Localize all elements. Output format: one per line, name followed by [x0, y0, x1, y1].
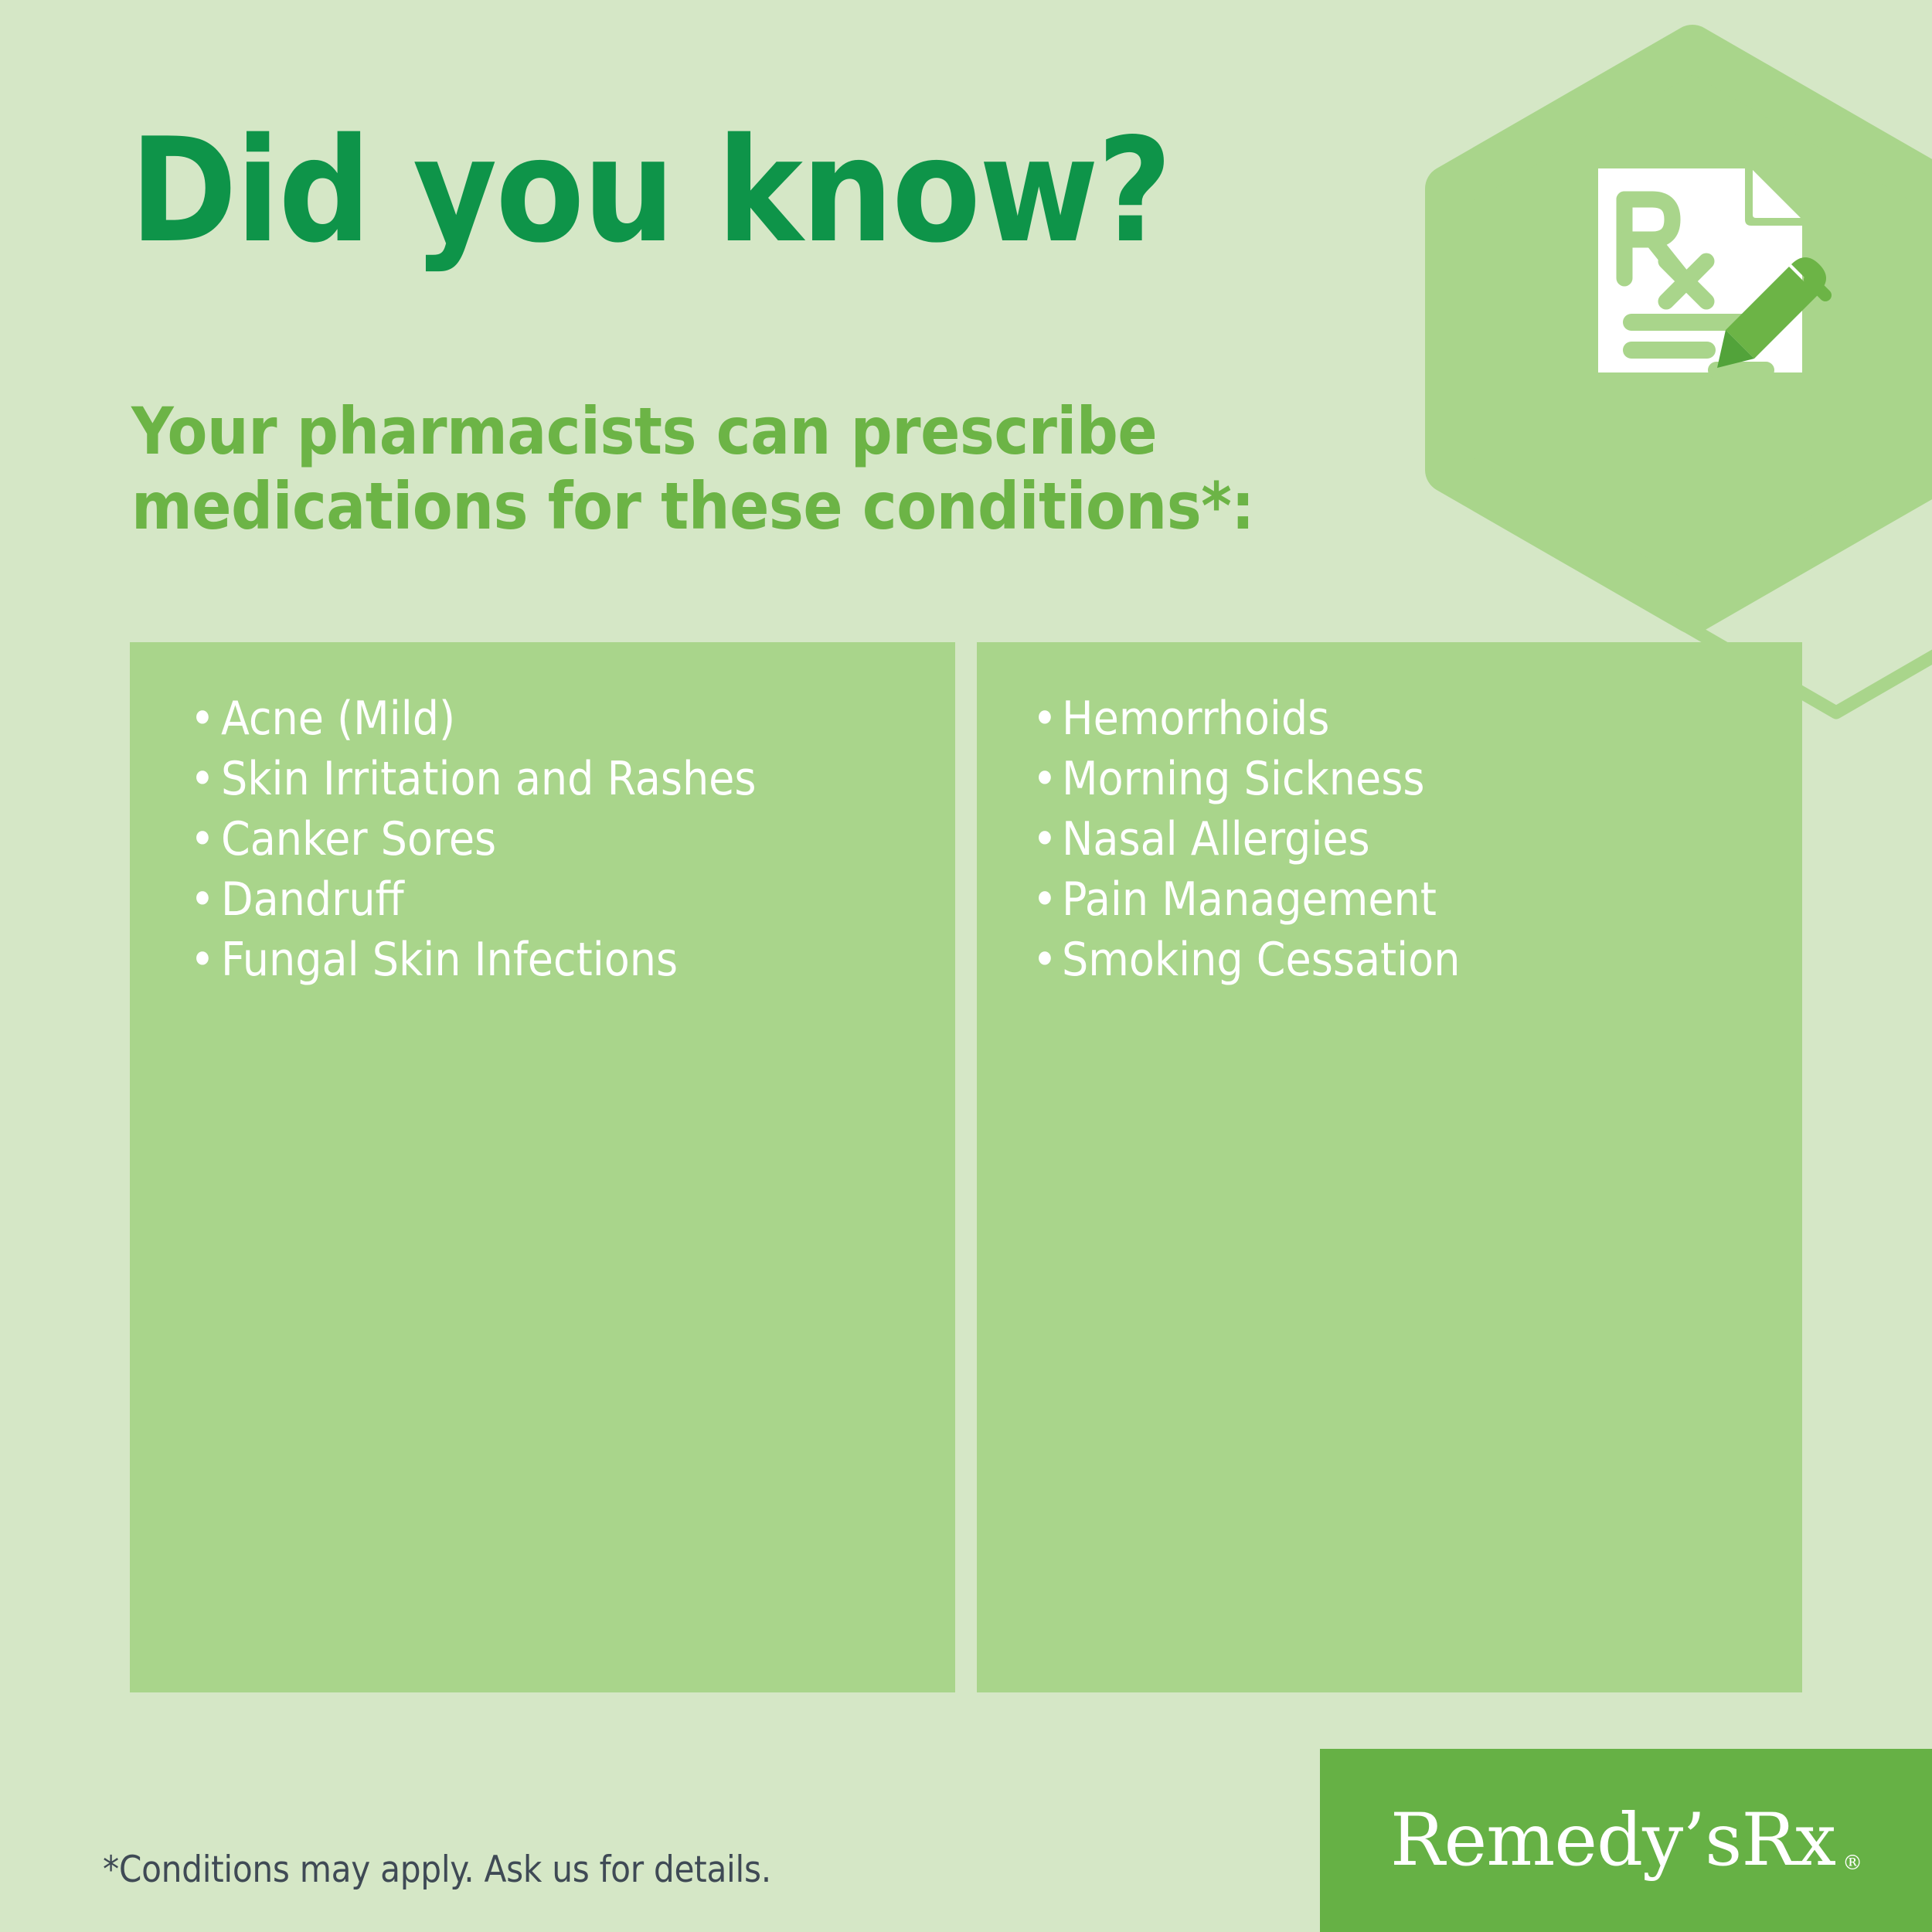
conditions-list-left: Acne (Mild) Skin Irritation and Rashes C…: [130, 689, 955, 990]
list-item: Dandruff: [130, 869, 955, 930]
list-item: Canker Sores: [130, 809, 955, 869]
conditions-list-right: Hemorrhoids Morning Sickness Nasal Aller…: [977, 689, 1802, 990]
subheadline-line-1: Your pharmacists can prescribe: [131, 394, 1291, 469]
document-line-2: [1623, 342, 1716, 359]
list-item: Fungal Skin Infections: [130, 930, 955, 990]
list-item: Pain Management: [977, 869, 1802, 930]
poster-canvas: Did you know? Your pharmacists can presc…: [0, 0, 1932, 1932]
document-line-3: [1708, 362, 1774, 379]
brand-wordmark-text: Remedy’sRx: [1390, 1798, 1835, 1883]
page-subheadline: Your pharmacists can prescribe medicatio…: [131, 394, 1291, 545]
rx-prescription-document-icon: [1592, 162, 1832, 379]
list-item: Hemorrhoids: [977, 689, 1802, 749]
conditions-panel-left: Acne (Mild) Skin Irritation and Rashes C…: [130, 642, 955, 1692]
page-headline: Did you know?: [130, 117, 1171, 264]
list-item: Smoking Cessation: [977, 930, 1802, 990]
registered-trademark-icon: ®: [1842, 1852, 1862, 1875]
list-item: Morning Sickness: [977, 749, 1802, 809]
brand-wordmark: Remedy’sRx®: [1390, 1798, 1862, 1883]
brand-logo-block: Remedy’sRx®: [1320, 1749, 1932, 1932]
subheadline-line-2: medications for these conditions*:: [131, 469, 1291, 544]
list-item: Acne (Mild): [130, 689, 955, 749]
conditions-panels: Acne (Mild) Skin Irritation and Rashes C…: [130, 642, 1802, 1692]
list-item: Skin Irritation and Rashes: [130, 749, 955, 809]
list-item: Nasal Allergies: [977, 809, 1802, 869]
footnote-disclaimer: *Conditions may apply. Ask us for detail…: [103, 1849, 771, 1891]
conditions-panel-right: Hemorrhoids Morning Sickness Nasal Aller…: [977, 642, 1802, 1692]
